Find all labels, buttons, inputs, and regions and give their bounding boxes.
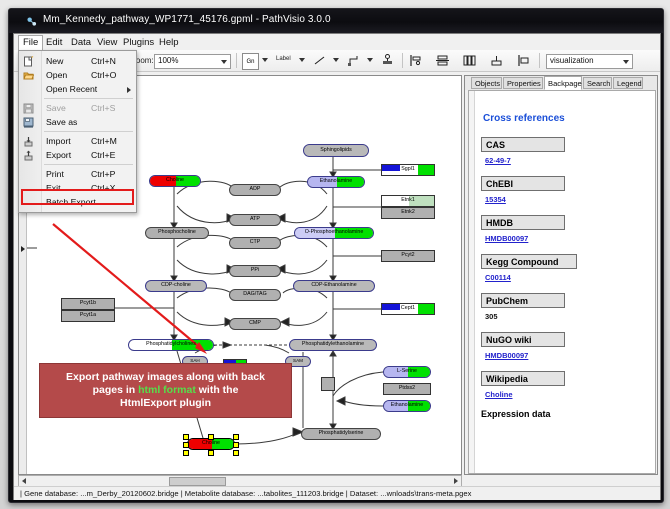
node-phosphatidylcholines[interactable]: Phosphatidylcholines (128, 339, 214, 351)
menu-bar: File Edit Data View Plugins Help (14, 34, 660, 51)
line-tool-icon[interactable] (312, 53, 327, 68)
menu-item-save-as[interactable]: Save as (19, 115, 136, 129)
window-title: Mm_Kennedy_pathway_WP1771_45176.gpml - P… (43, 14, 331, 25)
node-atp[interactable]: ATP (229, 214, 281, 226)
callout-highlight: html format (138, 384, 196, 396)
menu-save-accel: Ctrl+S (91, 103, 115, 113)
status-text: | Gene database: ...m_Derby_20120602.bri… (20, 489, 471, 498)
size-icon[interactable] (489, 53, 504, 68)
node-etnk2[interactable]: Etnk2 (381, 207, 435, 219)
annotation-callout: Export pathway images along with back pa… (39, 363, 292, 418)
backpage-gutter (469, 91, 475, 473)
toolbar-separator-3 (402, 53, 403, 68)
align-left-icon[interactable] (408, 53, 423, 68)
line-dropdown-icon[interactable] (333, 58, 339, 62)
side-panel-tabstrip: Objects Properties Backpage Search Legen… (465, 76, 657, 90)
node-choline-top[interactable]: Choline (149, 175, 201, 187)
node-pcyt1b[interactable]: Pcyt1b (61, 298, 115, 310)
menu-item-import[interactable]: Import Ctrl+M (19, 134, 136, 148)
selection-handle-sw[interactable] (183, 450, 189, 456)
callout-line-1: Export pathway images along with back (66, 371, 265, 384)
xref-value-wikipedia[interactable]: Choline (485, 390, 513, 399)
node-cdp-choline[interactable]: CDP-choline (145, 280, 207, 292)
node-pcyt2[interactable]: Pcyt2 (381, 250, 435, 262)
menu-plugins[interactable]: Plugins (119, 36, 158, 49)
node-cept1[interactable]: Cept1 (381, 303, 435, 315)
xref-value-chebi[interactable]: 15354 (485, 195, 506, 204)
node-choline-selected[interactable]: Choline (187, 438, 235, 450)
node-phosphatidylethanolamine[interactable]: Phosphatidylethanolamine (289, 339, 377, 351)
node-phosphocholine[interactable]: Phosphocholine (145, 227, 209, 239)
node-o-phosphoethanolamine[interactable]: O-Phosphoethanolamine (294, 227, 374, 239)
import-icon (23, 136, 34, 147)
menu-file[interactable]: File (18, 35, 43, 51)
file-menu-dropdown[interactable]: New Ctrl+N Open Ctrl+O Open Recent (18, 50, 137, 213)
xref-value-kegg[interactable]: C00114 (485, 273, 511, 282)
node-etnk1[interactable]: Etnk1 (381, 195, 435, 207)
interaction-tool-icon[interactable] (346, 53, 361, 68)
callout-line-2: pages in html format with the (66, 384, 265, 397)
zoom-value: 100% (158, 56, 178, 65)
selection-handle-ne[interactable] (233, 434, 239, 440)
node-ppi[interactable]: PPi (229, 265, 281, 277)
batch-export-highlight (21, 189, 134, 205)
xref-header-cas: CAS (481, 137, 565, 152)
menu-export-accel: Ctrl+E (91, 150, 115, 160)
anchor-tool-icon[interactable] (380, 53, 395, 68)
zoom-combo[interactable]: 100% (154, 54, 231, 69)
sgpl1-green-half (418, 165, 435, 175)
callout-line2-a: pages in (93, 384, 139, 396)
menu-item-open[interactable]: Open Ctrl+O (19, 68, 136, 82)
menu-data[interactable]: Data (67, 36, 95, 49)
node-dag-tag[interactable]: DAG/TAG (229, 289, 281, 301)
status-bar: | Gene database: ...m_Derby_20120602.bri… (14, 486, 660, 500)
menu-open-recent-label: Open Recent (46, 84, 97, 94)
selection-handle-s[interactable] (208, 450, 214, 456)
cross-references-heading: Cross references (483, 113, 565, 124)
cept1-green-half (418, 304, 435, 314)
node-ptdss2[interactable]: Ptdss2 (383, 383, 431, 395)
node-ethanolamine-top[interactable]: Ethanolamine (307, 176, 365, 188)
node-cmp[interactable]: CMP (229, 318, 281, 330)
node-l-serine[interactable]: L-Serine (383, 366, 431, 378)
callout-line2-b: with the (196, 384, 239, 396)
save-disk-icon (23, 103, 34, 114)
distribute-icon[interactable] (462, 53, 477, 68)
menu-import-label: Import (46, 136, 71, 146)
menu-separator-2 (44, 131, 133, 132)
selection-handle-n[interactable] (208, 434, 214, 440)
tab-backpage[interactable]: Backpage (544, 76, 582, 90)
toolbar-separator-2 (236, 53, 237, 68)
selection-handle-e[interactable] (233, 442, 239, 448)
interaction-dropdown-icon[interactable] (367, 58, 373, 62)
chevron-down-icon (221, 60, 227, 64)
open-folder-icon (23, 70, 34, 81)
datanode-tool-button[interactable]: Gn (242, 53, 259, 70)
xref-value-nugo[interactable]: HMDB00097 (485, 351, 528, 360)
node-ethanolamine-bottom[interactable]: Ethanolamine (383, 400, 431, 412)
xref-value-cas[interactable]: 62-49-7 (485, 156, 511, 165)
menu-save-as-label: Save as (46, 117, 77, 127)
node-ctp[interactable]: CTP (229, 237, 281, 249)
menu-print-accel: Ctrl+P (91, 169, 115, 179)
align-stack-icon[interactable] (435, 53, 450, 68)
side-panel: Objects Properties Backpage Search Legen… (464, 75, 658, 475)
pathvisio-icon (26, 16, 37, 27)
client-area: File Edit Data View Plugins Help Zoom: 1… (13, 33, 661, 500)
screenshot-root: Mm_Kennedy_pathway_WP1771_45176.gpml - P… (0, 0, 670, 509)
callout-line-3: HtmlExport plugin (66, 397, 265, 410)
backpage-content: Cross references CAS 62-49-7 ChEBI 15354… (468, 90, 656, 474)
submenu-arrow-icon (127, 87, 131, 93)
menu-open-accel: Ctrl+O (91, 70, 116, 80)
tab-objects[interactable]: Objects (471, 77, 502, 89)
menu-item-save[interactable]: Save Ctrl+S (19, 101, 136, 115)
menu-help[interactable]: Help (155, 36, 183, 49)
menu-item-print[interactable]: Print Ctrl+P (19, 167, 136, 181)
xref-header-chebi: ChEBI (481, 176, 565, 191)
menu-open-label: Open (46, 70, 67, 80)
xref-header-nugo: NuGO wiki (481, 332, 565, 347)
visualization-value: visualization (550, 56, 594, 65)
menu-separator-1 (44, 98, 133, 99)
menu-view[interactable]: View (93, 36, 121, 49)
expression-data-heading: Expression data (481, 409, 551, 419)
tab-search[interactable]: Search (583, 77, 612, 89)
menu-item-new[interactable]: New Ctrl+N (19, 54, 136, 68)
datanode-dropdown-icon[interactable] (262, 58, 268, 62)
menu-new-accel: Ctrl+N (91, 56, 116, 66)
menu-import-accel: Ctrl+M (91, 136, 117, 146)
xref-header-pubchem: PubChem (481, 293, 565, 308)
menu-export-label: Export (46, 150, 71, 160)
node-adp[interactable]: ADP (229, 184, 281, 196)
title-bar: Mm_Kennedy_pathway_WP1771_45176.gpml - P… (9, 9, 663, 33)
selection-handle-se[interactable] (233, 450, 239, 456)
node-cdp-ethanolamine[interactable]: CDP-Ethanolamine (293, 280, 375, 292)
export-icon (23, 150, 34, 161)
scroll-right-icon[interactable] (452, 477, 460, 485)
cept1-blue-half (382, 304, 400, 310)
node-phosphatidylserine[interactable]: Phosphatidylserine (301, 428, 381, 440)
xref-value-hmdb[interactable]: HMDB00097 (485, 234, 528, 243)
menu-new-label: New (46, 56, 63, 66)
menu-item-export[interactable]: Export Ctrl+E (19, 148, 136, 162)
scrollbar-thumb[interactable] (169, 477, 226, 486)
node-sgpl1[interactable]: Sgpl1 (381, 164, 435, 176)
scroll-left-icon[interactable] (20, 477, 28, 485)
xref-header-hmdb: HMDB (481, 215, 565, 230)
application-window: Mm_Kennedy_pathway_WP1771_45176.gpml - P… (8, 8, 664, 503)
sgpl1-blue-half (382, 165, 400, 171)
label-dropdown-icon[interactable] (299, 58, 305, 62)
node-anchor-box[interactable] (321, 377, 335, 391)
visualization-combo[interactable]: visualization (546, 54, 633, 69)
save-as-icon (23, 117, 34, 128)
chevron-down-icon (623, 60, 629, 64)
menu-print-label: Print (46, 169, 64, 179)
order-icon[interactable] (516, 53, 531, 68)
node-sphingolipids[interactable]: Sphingolipids (303, 144, 369, 157)
new-file-icon (23, 56, 34, 67)
menu-item-open-recent[interactable]: Open Recent (19, 82, 136, 96)
tab-properties[interactable]: Properties (503, 77, 543, 89)
selection-handle-nw[interactable] (183, 434, 189, 440)
toolbar-separator-4 (539, 53, 540, 68)
xref-value-pubchem: 305 (485, 312, 498, 321)
node-pcyt1a[interactable]: Pcyt1a (61, 310, 115, 322)
menu-save-label: Save (46, 103, 66, 113)
tab-legend[interactable]: Legend (613, 77, 643, 89)
menu-separator-3 (44, 164, 133, 165)
selection-handle-w[interactable] (183, 442, 189, 448)
menu-edit[interactable]: Edit (42, 36, 66, 49)
label-tool-button[interactable]: Label (276, 56, 291, 62)
xref-header-wikipedia: Wikipedia (481, 371, 565, 386)
xref-header-kegg: Kegg Compound (481, 254, 577, 269)
